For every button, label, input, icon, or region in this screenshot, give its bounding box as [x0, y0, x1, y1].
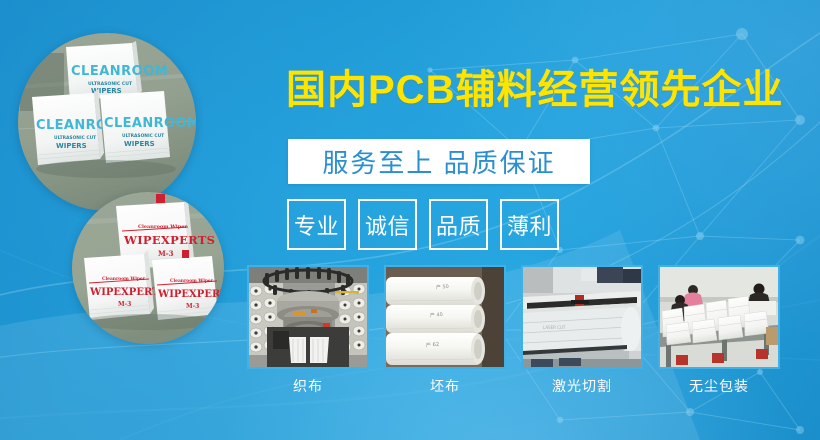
- svg-text:ULTRASONIC CUT: ULTRASONIC CUT: [122, 133, 164, 139]
- svg-text:产 40: 产 40: [430, 311, 444, 319]
- svg-text:WIPEXPERTS: WIPEXPERTS: [157, 289, 224, 300]
- thumbnail-image-cleanroom-packing: [658, 265, 780, 369]
- svg-text:产 50: 产 50: [436, 283, 450, 291]
- svg-text:WIPEXPERTS: WIPEXPERTS: [123, 233, 215, 247]
- process-thumbnail-row: 织布: [247, 265, 780, 396]
- promo-banner: CLEANROOM ULTRASONIC CUT WIPERS CLEANROO…: [0, 0, 820, 440]
- product-photo-wipexperts-wipes: Cleanroom Wiper WIPEXPERTS M-3 Cleanroom…: [72, 192, 224, 344]
- process-caption-cleanroom-packing: 无尘包装: [658, 376, 780, 396]
- keyword-box-group: 专业 诚信 品质 薄利: [287, 199, 559, 250]
- process-caption-laser-cutting: 激光切割: [521, 376, 643, 396]
- keyword-box-chengxin: 诚信: [358, 199, 417, 250]
- process-step-weaving: 织布: [247, 265, 369, 396]
- keyword-box-pinzhi: 品质: [429, 199, 488, 250]
- svg-text:WIPERS: WIPERS: [56, 142, 87, 150]
- thumbnail-image-knitting-machine: [247, 265, 369, 369]
- svg-text:WIPERS: WIPERS: [124, 140, 155, 148]
- banner-subtitle-text: 服务至上 品质保证: [322, 143, 555, 180]
- thumbnail-image-laser-cutter: LASER CUT: [521, 265, 643, 369]
- product-photo-cleanroom-wipes: CLEANROOM ULTRASONIC CUT WIPERS CLEANROO…: [18, 33, 196, 211]
- svg-text:M-3: M-3: [158, 249, 174, 258]
- process-caption-greige-fabric: 坯布: [384, 376, 506, 396]
- process-step-cleanroom-packing: 无尘包装: [658, 265, 780, 396]
- banner-subtitle-box: 服务至上 品质保证: [288, 139, 590, 184]
- process-step-greige-fabric: 产 50 产 40 产 62: [384, 265, 506, 396]
- thumbnail-image-fabric-rolls: 产 50 产 40 产 62: [384, 265, 506, 369]
- svg-text:ULTRASONIC CUT: ULTRASONIC CUT: [54, 135, 96, 141]
- keyword-box-zhuanye: 专业: [287, 199, 346, 250]
- process-caption-weaving: 织布: [247, 376, 369, 396]
- svg-text:LASER CUT: LASER CUT: [543, 325, 566, 330]
- svg-text:CLEANROOM: CLEANROOM: [104, 116, 196, 131]
- banner-headline: 国内PCB辅料经营领先企业: [286, 70, 806, 110]
- svg-text:CLEANROOM: CLEANROOM: [71, 64, 168, 79]
- process-step-laser-cutting: LASER CUT 激光切割: [521, 265, 643, 396]
- keyword-box-baoli: 薄利: [500, 199, 559, 250]
